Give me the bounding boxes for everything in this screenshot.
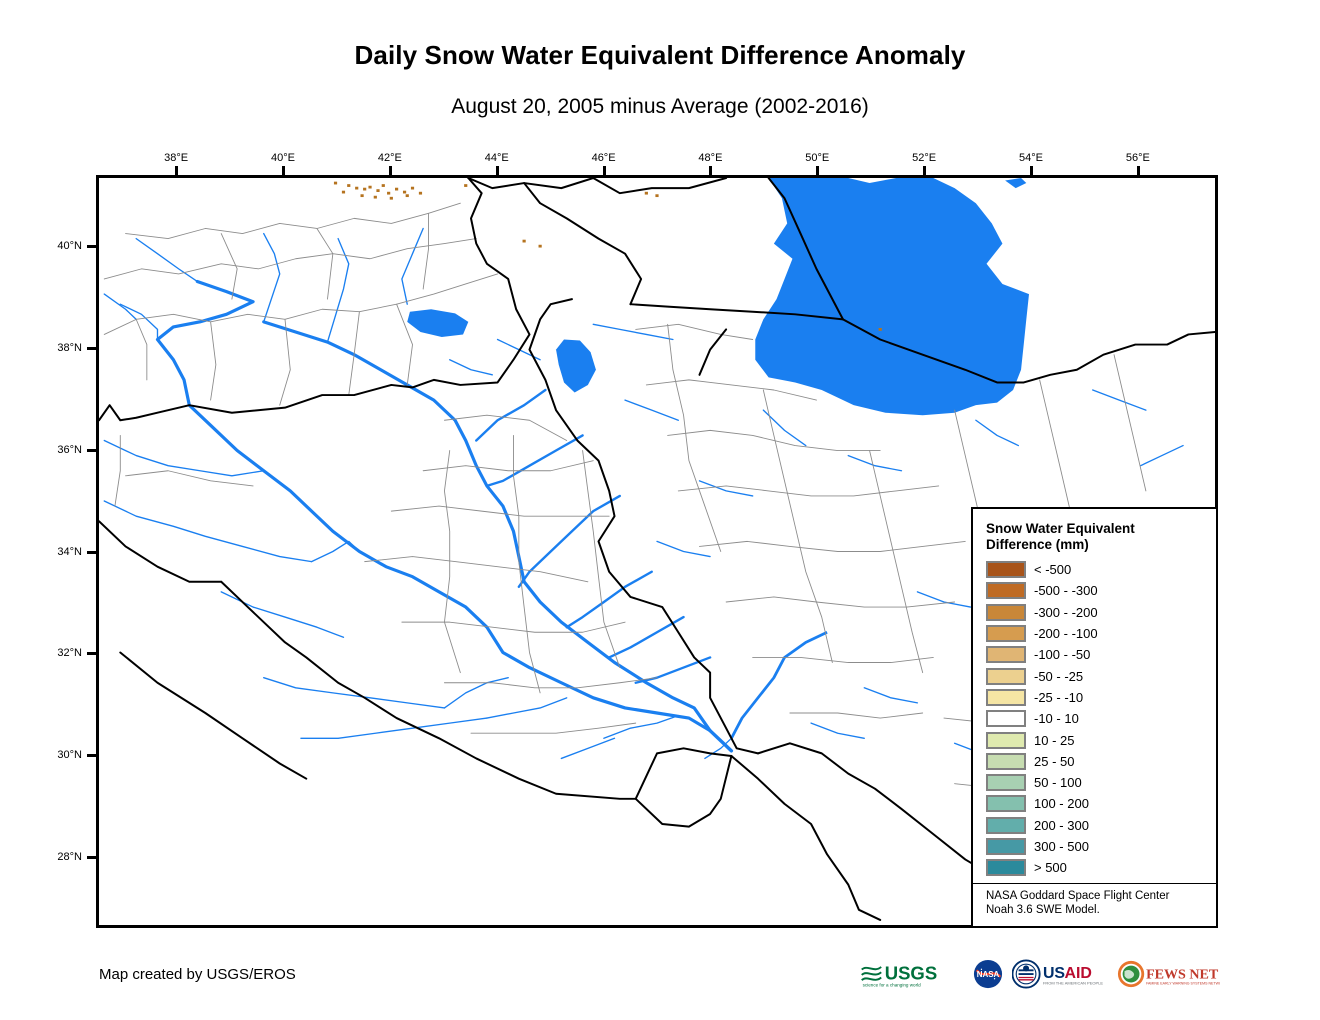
legend-title-line2: Difference (mm) [986, 537, 1171, 553]
svg-text:US: US [1043, 965, 1065, 982]
legend-swatch [986, 795, 1026, 812]
lat-tick [87, 652, 96, 655]
lon-tick [923, 166, 926, 175]
legend-swatch [986, 732, 1026, 749]
lon-tick [496, 166, 499, 175]
legend-source-note: NASA Goddard Space Flight Center Noah 3.… [986, 889, 1169, 917]
lon-tick-label: 52°E [912, 152, 936, 164]
legend-swatch [986, 817, 1026, 834]
map-legend: Snow Water Equivalent Difference (mm) < … [971, 507, 1218, 928]
svg-text:NASA: NASA [977, 970, 1000, 979]
legend-row: 200 - 300 [986, 815, 1216, 836]
lon-tick-label: 56°E [1126, 152, 1150, 164]
fewsnet-logo: FEWS NET FAMINE EARLY WARNING SYSTEMS NE… [1117, 959, 1220, 989]
lon-tick-label: 48°E [698, 152, 722, 164]
legend-swatch [986, 838, 1026, 855]
legend-row: -300 - -200 [986, 602, 1216, 623]
legend-row: 10 - 25 [986, 729, 1216, 750]
legend-swatch [986, 561, 1026, 578]
legend-label: 10 - 25 [1034, 733, 1074, 748]
legend-label: 25 - 50 [1034, 754, 1074, 769]
lon-tick-label: 46°E [592, 152, 616, 164]
legend-label: -10 - 10 [1034, 711, 1079, 726]
agency-logos: USGS science for a changing world NASA U… [860, 958, 1220, 990]
map-credit: Map created by USGS/EROS [99, 966, 296, 983]
page-subtitle: August 20, 2005 minus Average (2002-2016… [0, 95, 1320, 119]
legend-swatch [986, 625, 1026, 642]
lon-tick [1030, 166, 1033, 175]
lon-tick [709, 166, 712, 175]
legend-note-line1: NASA Goddard Space Flight Center [986, 889, 1169, 903]
lon-tick-label: 50°E [805, 152, 829, 164]
legend-row: 50 - 100 [986, 772, 1216, 793]
nasa-logo: NASA [973, 959, 1003, 989]
legend-label: -200 - -100 [1034, 626, 1098, 641]
svg-text:AID: AID [1065, 965, 1092, 982]
legend-row: -50 - -25 [986, 665, 1216, 686]
legend-label: 50 - 100 [1034, 775, 1082, 790]
legend-row: < -500 [986, 559, 1216, 580]
lat-tick-label: 38°N [57, 342, 82, 354]
lat-tick-label: 32°N [57, 647, 82, 659]
lat-tick-label: 36°N [57, 444, 82, 456]
legend-swatch [986, 646, 1026, 663]
legend-label: 100 - 200 [1034, 796, 1089, 811]
lon-tick [816, 166, 819, 175]
svg-text:science for a changing world: science for a changing world [863, 982, 921, 987]
legend-title: Snow Water Equivalent Difference (mm) [986, 521, 1171, 553]
legend-label: -100 - -50 [1034, 647, 1090, 662]
legend-row: -10 - 10 [986, 708, 1216, 729]
legend-row: 100 - 200 [986, 793, 1216, 814]
lat-tick [87, 754, 96, 757]
legend-swatch [986, 604, 1026, 621]
legend-swatch [986, 859, 1026, 876]
lon-tick [175, 166, 178, 175]
water-bodies [407, 178, 1034, 415]
legend-swatch [986, 689, 1026, 706]
lon-tick [282, 166, 285, 175]
legend-title-line1: Snow Water Equivalent [986, 521, 1171, 537]
lat-tick [87, 551, 96, 554]
lat-tick-label: 34°N [57, 546, 82, 558]
lon-tick-label: 44°E [485, 152, 509, 164]
svg-text:FAMINE EARLY WARNING SYSTEMS N: FAMINE EARLY WARNING SYSTEMS NETWORK [1146, 981, 1220, 985]
svg-text:FROM THE AMERICAN PEOPLE: FROM THE AMERICAN PEOPLE [1043, 980, 1103, 985]
legend-label: -300 - -200 [1034, 605, 1098, 620]
lat-tick [87, 347, 96, 350]
legend-swatch [986, 774, 1026, 791]
legend-row: 25 - 50 [986, 751, 1216, 772]
lat-tick [87, 449, 96, 452]
lat-tick-label: 28°N [57, 851, 82, 863]
usaid-logo: US AID FROM THE AMERICAN PEOPLE [1012, 959, 1108, 989]
legend-row: -100 - -50 [986, 644, 1216, 665]
lon-tick [1137, 166, 1140, 175]
legend-swatch [986, 668, 1026, 685]
legend-swatch [986, 753, 1026, 770]
legend-label: 300 - 500 [1034, 839, 1089, 854]
lat-tick-label: 30°N [57, 749, 82, 761]
legend-row: -500 - -300 [986, 580, 1216, 601]
legend-row: 300 - 500 [986, 836, 1216, 857]
lon-tick-label: 38°E [164, 152, 188, 164]
legend-swatch [986, 710, 1026, 727]
legend-label: 200 - 300 [1034, 818, 1089, 833]
lon-tick-label: 54°E [1019, 152, 1043, 164]
legend-row: > 500 [986, 857, 1216, 878]
lon-tick-label: 40°E [271, 152, 295, 164]
svg-text:FEWS NET: FEWS NET [1146, 967, 1219, 983]
lon-tick [389, 166, 392, 175]
svg-text:USGS: USGS [885, 962, 937, 983]
legend-row: -25 - -10 [986, 687, 1216, 708]
lon-tick [603, 166, 606, 175]
legend-items: < -500-500 - -300-300 - -200-200 - -100-… [986, 559, 1216, 878]
lat-tick [87, 245, 96, 248]
legend-label: -500 - -300 [1034, 583, 1098, 598]
legend-row: -200 - -100 [986, 623, 1216, 644]
legend-label: -25 - -10 [1034, 690, 1083, 705]
legend-label: > 500 [1034, 860, 1067, 875]
legend-label: < -500 [1034, 562, 1071, 577]
lon-tick-label: 42°E [378, 152, 402, 164]
lat-tick [87, 856, 96, 859]
legend-swatch [986, 582, 1026, 599]
legend-note-line2: Noah 3.6 SWE Model. [986, 903, 1169, 917]
lat-tick-label: 40°N [57, 240, 82, 252]
legend-divider [973, 883, 1216, 884]
page-title: Daily Snow Water Equivalent Difference A… [0, 40, 1320, 71]
legend-label: -50 - -25 [1034, 669, 1083, 684]
usgs-logo: USGS science for a changing world [860, 959, 964, 989]
